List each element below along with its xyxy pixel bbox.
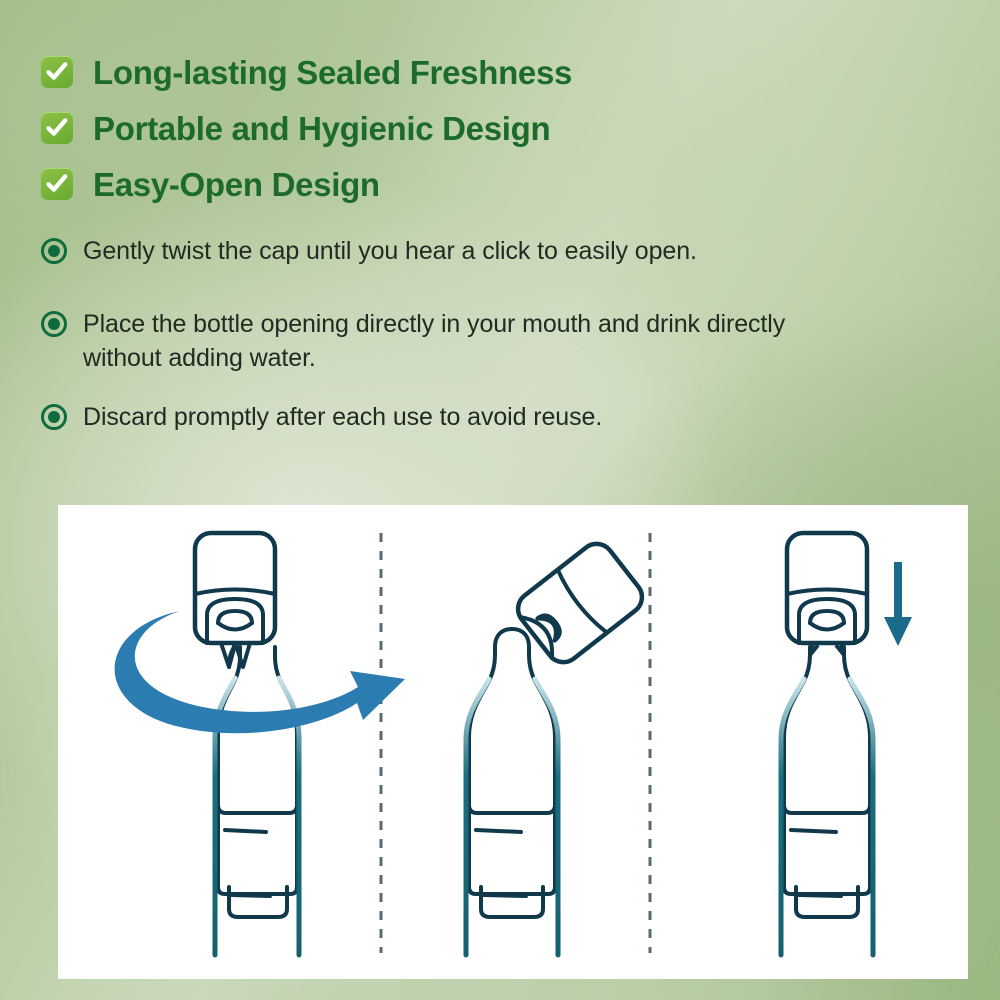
instruction-text: Place the bottle opening directly in you… <box>83 307 808 376</box>
instruction-item: Discard promptly after each use to avoid… <box>41 400 831 435</box>
feature-item: Portable and Hygienic Design <box>41 100 741 156</box>
instruction-item: Place the bottle opening directly in you… <box>41 307 831 376</box>
replace-cap-step <box>781 533 912 955</box>
feature-item: Easy-Open Design <box>41 156 741 212</box>
radio-filled-icon <box>41 311 67 337</box>
remove-cap-step <box>466 537 649 955</box>
feature-list: Long-lasting Sealed Freshness Portable a… <box>41 44 741 212</box>
radio-filled-icon <box>41 238 67 264</box>
checkbox-checked-icon <box>41 112 73 144</box>
radio-filled-icon <box>41 404 67 430</box>
tilted-cap-icon <box>511 537 649 669</box>
instruction-item: Gently twist the cap until you hear a cl… <box>41 234 831 269</box>
checkbox-checked-icon <box>41 168 73 200</box>
twist-cap-step <box>115 533 405 955</box>
feature-label: Portable and Hygienic Design <box>93 112 550 145</box>
instruction-text: Discard promptly after each use to avoid… <box>83 400 602 435</box>
down-arrow-icon <box>884 562 912 646</box>
feature-label: Long-lasting Sealed Freshness <box>93 56 572 89</box>
instruction-text: Gently twist the cap until you hear a cl… <box>83 234 697 269</box>
checkbox-checked-icon <box>41 56 73 88</box>
feature-item: Long-lasting Sealed Freshness <box>41 44 741 100</box>
illustration-panel <box>58 505 968 979</box>
instruction-list: Gently twist the cap until you hear a cl… <box>41 234 831 460</box>
feature-label: Easy-Open Design <box>93 168 380 201</box>
